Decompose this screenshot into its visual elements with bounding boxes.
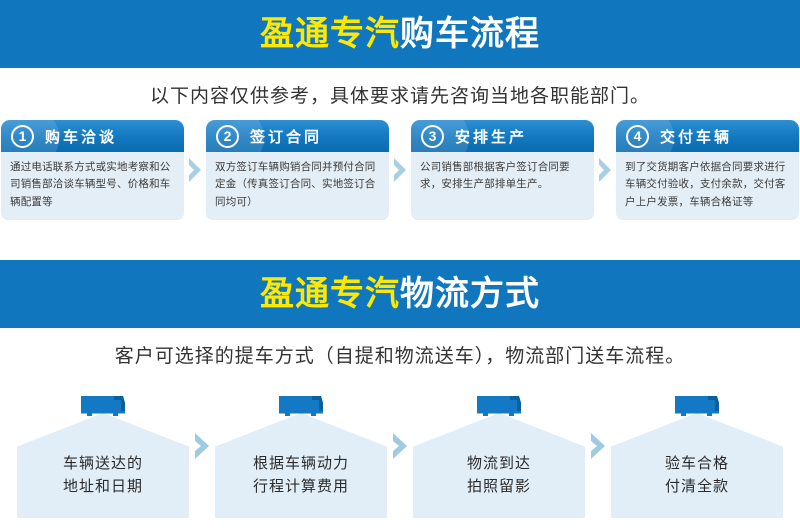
flow-label-2-line1: 根据车辆动力 [215, 453, 387, 476]
flow-label-3-line1: 物流到达 [413, 453, 585, 476]
truck-icon [77, 392, 129, 420]
step-3-title: 安排生产 [455, 126, 527, 147]
section-2-banner: 盈通专汽物流方式 [0, 260, 800, 328]
step-1-header: 1 购车洽谈 [1, 120, 184, 152]
step-4-header: 4 交付车辆 [616, 120, 799, 152]
step-1-title: 购车洽谈 [45, 126, 117, 147]
section-2-subtitle: 客户可选择的提车方式（自提和物流送车），物流部门送车流程。 [115, 341, 686, 368]
step-card-4[interactable]: 4 交付车辆 到了交货期客户依据合同要求进行车辆交付验收，支付余款，交付客户上户… [616, 120, 799, 220]
flow-arrow-3 [585, 392, 611, 518]
truck-icon [671, 392, 723, 420]
step-2-title: 签订合同 [250, 126, 322, 147]
flow-label-2: 根据车辆动力 行程计算费用 [215, 453, 387, 498]
step-card-2[interactable]: 2 签订合同 双方签订车辆购销合同并预付合同定金（传真签订合同、实地签订合同均可… [206, 120, 389, 220]
flow-label-1-line1: 车辆送达的 [17, 453, 189, 476]
flow-label-1-line2: 地址和日期 [17, 476, 189, 499]
flow-arrow-2 [387, 392, 413, 518]
section-1-title: 盈通专汽购车流程 [260, 17, 540, 51]
step-arrow-1 [184, 120, 206, 220]
step-1-text: 通过电话联系方式或实地考察和公司销售部洽谈车辆型号、价格和车辆配置等 [10, 159, 175, 211]
flow-item-2[interactable]: 根据车辆动力 行程计算费用 [215, 392, 387, 518]
step-4-text: 到了交货期客户依据合同要求进行车辆交付验收，支付余款，交付客户上户发票，车辆合格… [625, 159, 790, 211]
section-1-subtitle: 以下内容仅供参考，具体要求请先咨询当地各职能部门。 [150, 81, 650, 108]
section-1-banner: 盈通专汽购车流程 [0, 0, 800, 68]
flow-label-4-line1: 验车合格 [611, 453, 783, 476]
truck-icon [473, 392, 525, 420]
step-arrow-2 [389, 120, 411, 220]
flow-item-1[interactable]: 车辆送达的 地址和日期 [17, 392, 189, 518]
flow-item-3[interactable]: 物流到达 拍照留影 [413, 392, 585, 518]
step-card-1[interactable]: 1 购车洽谈 通过电话联系方式或实地考察和公司销售部洽谈车辆型号、价格和车辆配置… [1, 120, 184, 220]
chevron-right-icon [392, 157, 408, 183]
flow-label-4: 验车合格 付清全款 [611, 453, 783, 498]
chevron-right-icon [597, 157, 613, 183]
purchase-steps: 1 购车洽谈 通过电话联系方式或实地考察和公司销售部洽谈车辆型号、价格和车辆配置… [0, 120, 800, 238]
step-card-3[interactable]: 3 安排生产 公司销售部根据客户签订合同要求，安排生产部排单生产。 [411, 120, 594, 220]
step-1-number: 1 [11, 125, 34, 148]
section-1-title-highlight: 盈通专汽 [260, 15, 400, 53]
step-1-body: 通过电话联系方式或实地考察和公司销售部洽谈车辆型号、价格和车辆配置等 [1, 152, 184, 220]
logistics-flow: 车辆送达的 地址和日期 根据车辆动力 行程计算费用 [0, 392, 800, 518]
section-2-title-highlight: 盈通专汽 [260, 275, 400, 313]
chevron-right-icon [391, 431, 409, 461]
step-3-header: 3 安排生产 [411, 120, 594, 152]
flow-arrow-1 [189, 392, 215, 518]
step-3-number: 3 [421, 125, 444, 148]
flow-item-4[interactable]: 验车合格 付清全款 [611, 392, 783, 518]
chevron-right-icon [193, 431, 211, 461]
flow-label-4-line2: 付清全款 [611, 476, 783, 499]
step-2-body: 双方签订车辆购销合同并预付合同定金（传真签订合同、实地签订合同均可） [206, 152, 389, 220]
section-1-subtitle-row: 以下内容仅供参考，具体要求请先咨询当地各职能部门。 [0, 68, 800, 120]
section-divider [0, 238, 800, 260]
section-2-subtitle-row: 客户可选择的提车方式（自提和物流送车），物流部门送车流程。 [0, 328, 800, 380]
section-1-title-plain: 购车流程 [400, 15, 540, 53]
truck-icon [275, 392, 327, 420]
step-4-body: 到了交货期客户依据合同要求进行车辆交付验收，支付余款，交付客户上户发票，车辆合格… [616, 152, 799, 220]
step-2-header: 2 签订合同 [206, 120, 389, 152]
flow-label-3: 物流到达 拍照留影 [413, 453, 585, 498]
flow-top-spacer [0, 380, 800, 392]
step-arrow-3 [594, 120, 616, 220]
step-2-number: 2 [216, 125, 239, 148]
section-2-title: 盈通专汽物流方式 [260, 277, 540, 311]
chevron-right-icon [589, 431, 607, 461]
chevron-right-icon [187, 157, 203, 183]
step-3-text: 公司销售部根据客户签订合同要求，安排生产部排单生产。 [420, 159, 585, 194]
step-3-body: 公司销售部根据客户签订合同要求，安排生产部排单生产。 [411, 152, 594, 220]
step-4-number: 4 [626, 125, 649, 148]
step-4-title: 交付车辆 [660, 126, 732, 147]
flow-label-2-line2: 行程计算费用 [215, 476, 387, 499]
flow-label-3-line2: 拍照留影 [413, 476, 585, 499]
section-2-title-plain: 物流方式 [400, 275, 540, 313]
flow-label-1: 车辆送达的 地址和日期 [17, 453, 189, 498]
step-2-text: 双方签订车辆购销合同并预付合同定金（传真签订合同、实地签订合同均可） [215, 159, 380, 211]
